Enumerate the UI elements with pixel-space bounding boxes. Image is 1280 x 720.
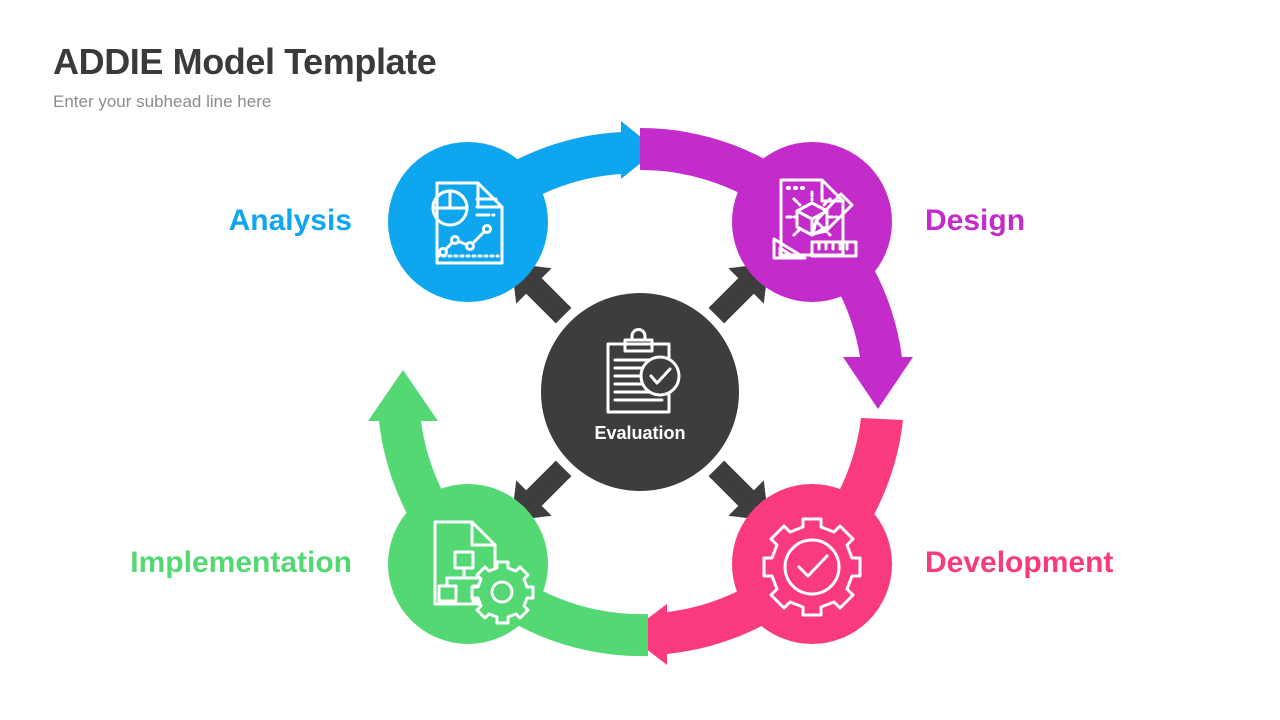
center-label-evaluation: Evaluation bbox=[540, 421, 740, 445]
diagram-graphics bbox=[0, 0, 1280, 720]
addie-cycle-diagram: Analysis Design Development Implementati… bbox=[0, 0, 1280, 720]
stage-circle-implementation[interactable] bbox=[388, 484, 548, 644]
stage-circle-analysis[interactable] bbox=[388, 142, 548, 302]
stage-circle-development[interactable] bbox=[732, 484, 892, 644]
stage-label-design: Design bbox=[925, 203, 1025, 239]
stage-circle-design[interactable] bbox=[732, 142, 892, 302]
stage-label-analysis: Analysis bbox=[229, 203, 352, 239]
stage-label-implementation: Implementation bbox=[130, 545, 352, 581]
center-circle-evaluation[interactable] bbox=[541, 293, 739, 491]
stage-label-development: Development bbox=[925, 545, 1113, 581]
slide-canvas: ADDIE Model Template Enter your subhead … bbox=[0, 0, 1280, 720]
